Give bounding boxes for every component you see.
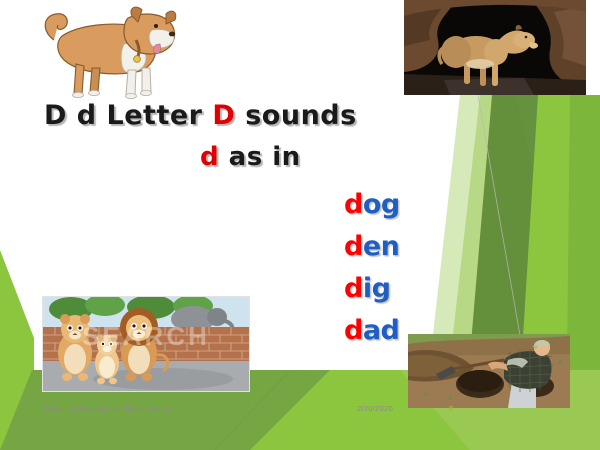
- word-den-rest: en: [363, 231, 400, 262]
- slide-canvas: SEARCH: [0, 0, 600, 450]
- svg-text:SEARCH: SEARCH: [82, 321, 210, 351]
- footer-page-number: 8: [449, 404, 453, 413]
- word-den-initial: d: [344, 231, 363, 262]
- decorative-green-wedge-left: [0, 250, 34, 450]
- footer-date: 2/20/2020: [357, 404, 393, 413]
- word-item-den: den: [344, 226, 414, 268]
- footer-note: Enabling Reading for Slow Learners.: [44, 404, 177, 413]
- lion-family-illustration: SEARCH: [42, 296, 250, 392]
- word-dad-rest: ad: [363, 315, 400, 346]
- heading-line1-part2: sounds: [235, 100, 356, 131]
- man-digging-photo: [408, 334, 570, 408]
- word-dig-initial: d: [344, 273, 363, 304]
- word-dog-initial: d: [344, 189, 363, 220]
- word-item-dig: dig: [344, 268, 414, 310]
- heading-line2-highlight-letter: d: [200, 142, 219, 172]
- dog-illustration: [36, 2, 186, 100]
- word-dog-rest: og: [363, 189, 400, 220]
- heading-line-1: D d Letter D sounds: [44, 100, 357, 131]
- word-item-dog: dog: [344, 184, 414, 226]
- heading-line-2: d as in: [200, 142, 301, 172]
- heading-line1-highlight-letter: D: [212, 100, 235, 131]
- word-dig-rest: ig: [363, 273, 391, 304]
- lion-den-photo: [404, 0, 586, 95]
- word-list: dog den dig dad: [344, 184, 414, 352]
- heading-line1-part1: D d Letter: [44, 100, 212, 131]
- word-dad-initial: d: [344, 315, 363, 346]
- heading-line2-rest: as in: [219, 142, 301, 172]
- word-item-dad: dad: [344, 310, 414, 352]
